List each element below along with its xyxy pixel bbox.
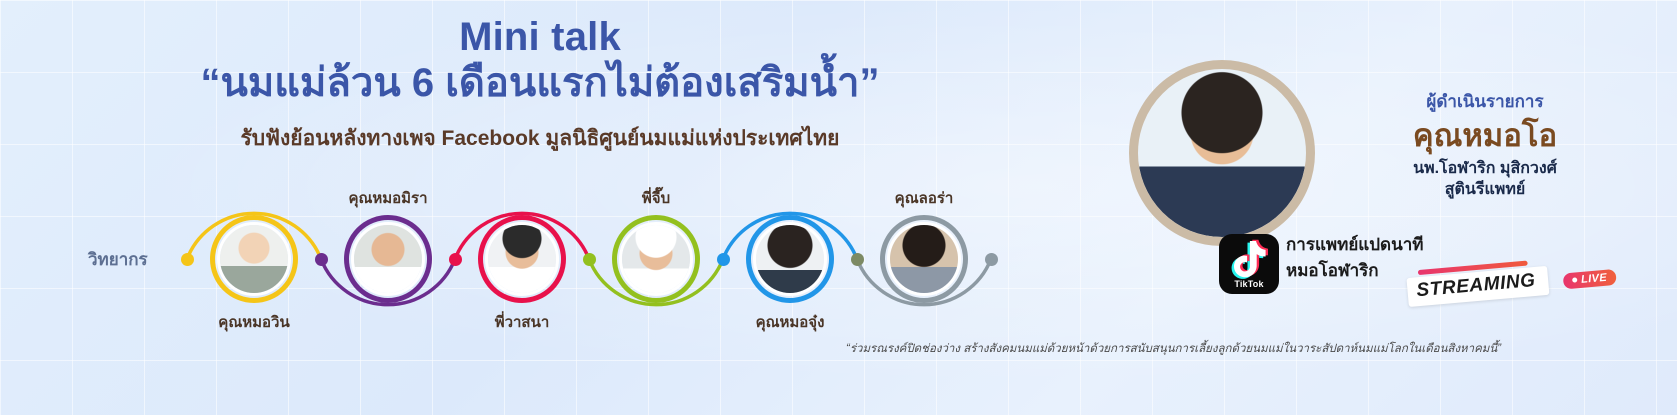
host-nickname: คุณหมอโอ: [1320, 119, 1650, 153]
connector-dot: [315, 253, 328, 266]
channel-line-1: การแพทย์แปดนาที: [1286, 232, 1423, 258]
streaming-badge: STREAMING LIVE: [1406, 253, 1617, 307]
mini-talk-banner: Mini talk “นมแม่ล้วน 6 เดือนแรกไม่ต้องเส…: [0, 0, 1677, 415]
connector-dot: [985, 253, 998, 266]
live-pill: LIVE: [1562, 268, 1616, 289]
speaker-avatar-1[interactable]: [344, 215, 432, 303]
headline-block: Mini talk “นมแม่ล้วน 6 เดือนแรกไม่ต้องเส…: [0, 16, 1080, 155]
speaker-photo: [622, 225, 690, 293]
host-credentials: ผู้ดำเนินรายการ คุณหมอโอ นพ.โอฬาริก มุสิ…: [1320, 88, 1650, 201]
live-dot-icon: [1572, 277, 1577, 282]
speaker-avatar-3[interactable]: [612, 215, 700, 303]
speaker-photo: [220, 225, 288, 293]
speaker-avatar-5[interactable]: [880, 215, 968, 303]
connector-dot: [181, 253, 194, 266]
streaming-label: STREAMING: [1416, 270, 1537, 301]
speaker-name-5: คุณลอร่า: [864, 186, 984, 210]
footer-note: “ร่วมรณรงค์ปิดช่องว่าง สร้างสังคมนมแม่ด้…: [846, 340, 1501, 358]
speaker-photo: [756, 225, 824, 293]
title-quote: “นมแม่ล้วน 6 เดือนแรกไม่ต้องเสริมน้ำ”: [0, 60, 1080, 107]
speaker-avatar-0[interactable]: [210, 215, 298, 303]
speaker-name-3: พี่จี๊บ: [596, 186, 716, 210]
speaker-name-2: พี่วาสนา: [462, 310, 582, 334]
host-full-name: นพ.โอฬาริก มุสิกวงศ์: [1320, 159, 1650, 180]
connector-dot: [717, 253, 730, 266]
live-label: LIVE: [1581, 271, 1608, 285]
host-specialty: สูตินรีแพทย์: [1320, 180, 1650, 201]
speaker-name-4: คุณหมอจุ๋ง: [730, 310, 850, 334]
host-role-label: ผู้ดำเนินรายการ: [1320, 88, 1650, 115]
speaker-avatar-4[interactable]: [746, 215, 834, 303]
page-subtitle: รับฟังย้อนหลังทางเพจ Facebook มูลนิธิศูน…: [0, 122, 1080, 155]
speaker-avatar-2[interactable]: [478, 215, 566, 303]
connector-dot: [851, 253, 864, 266]
host-avatar[interactable]: [1129, 60, 1315, 246]
speaker-name-1: คุณหมอมิรา: [328, 186, 448, 210]
speaker-photo: [354, 225, 422, 293]
speaker-photo: [488, 225, 556, 293]
connector-dot: [449, 253, 462, 266]
tiktok-icon[interactable]: TikTok: [1219, 234, 1279, 294]
host-ring: [1129, 60, 1315, 246]
channel-line-2: หมอโอฬาริก: [1286, 258, 1423, 284]
speaker-name-0: คุณหมอวิน: [194, 310, 314, 334]
page-title: Mini talk: [0, 16, 1080, 58]
tiktok-wordmark: TikTok: [1219, 279, 1279, 289]
tiktok-channel: การแพทย์แปดนาที หมอโอฬาริก: [1286, 232, 1423, 283]
speaker-photo: [890, 225, 958, 293]
connector-dot: [583, 253, 596, 266]
